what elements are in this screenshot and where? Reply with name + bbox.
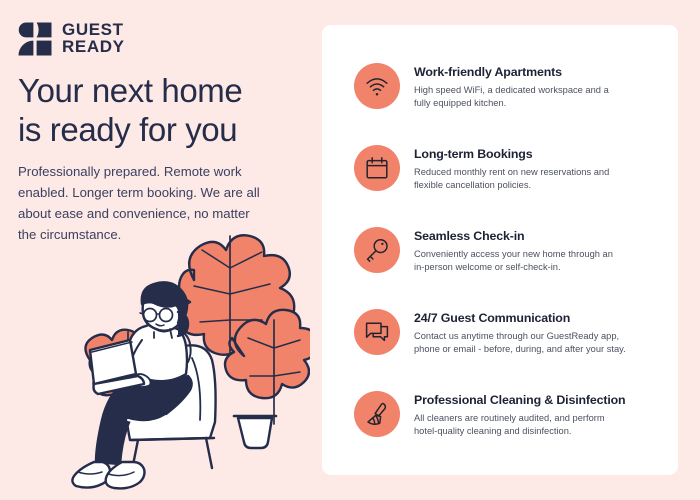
feature-item-long-term-bookings[interactable]: Long-term Bookings Reduced monthly rent … bbox=[354, 145, 666, 192]
feature-text: 24/7 Guest Communication Contact us anyt… bbox=[414, 309, 626, 356]
page-title: Your next home is ready for you bbox=[18, 72, 308, 150]
brand-wordmark: GUEST READY bbox=[62, 22, 125, 55]
feature-text: Professional Cleaning & Disinfection All… bbox=[414, 391, 625, 438]
feature-description: Conveniently access your new home throug… bbox=[414, 248, 613, 274]
feature-title: Long-term Bookings bbox=[414, 147, 609, 163]
chat-bubbles-icon bbox=[354, 309, 400, 355]
feature-title: Professional Cleaning & Disinfection bbox=[414, 393, 625, 409]
feature-text: Long-term Bookings Reduced monthly rent … bbox=[414, 145, 609, 192]
feature-item-professional-cleaning[interactable]: Professional Cleaning & Disinfection All… bbox=[354, 391, 666, 438]
marketing-infographic: GUEST READY Your next home is ready for … bbox=[0, 0, 700, 500]
feature-description: Reduced monthly rent on new reservations… bbox=[414, 166, 609, 192]
feature-title: Seamless Check-in bbox=[414, 229, 613, 245]
feature-description: All cleaners are routinely audited, and … bbox=[414, 412, 625, 438]
broom-icon bbox=[354, 391, 400, 437]
features-panel: Work-friendly Apartments High speed WiFi… bbox=[322, 25, 678, 475]
feature-text: Work-friendly Apartments High speed WiFi… bbox=[414, 63, 609, 110]
feature-title: 24/7 Guest Communication bbox=[414, 311, 626, 327]
feature-text: Seamless Check-in Conveniently access yo… bbox=[414, 227, 613, 274]
wifi-icon bbox=[354, 63, 400, 109]
feature-item-work-friendly-apartments[interactable]: Work-friendly Apartments High speed WiFi… bbox=[354, 63, 666, 110]
feature-item-seamless-check-in[interactable]: Seamless Check-in Conveniently access yo… bbox=[354, 227, 666, 274]
left-column: GUEST READY Your next home is ready for … bbox=[0, 0, 322, 500]
woman-with-laptop-on-chair-with-plants-illustration bbox=[34, 228, 310, 490]
feature-description: Contact us anytime through our GuestRead… bbox=[414, 330, 626, 356]
feature-title: Work-friendly Apartments bbox=[414, 65, 609, 81]
calendar-icon bbox=[354, 145, 400, 191]
brand-logo[interactable]: GUEST READY bbox=[18, 22, 125, 56]
feature-description: High speed WiFi, a dedicated workspace a… bbox=[414, 84, 609, 110]
guestready-logo-mark bbox=[18, 22, 52, 56]
key-icon bbox=[354, 227, 400, 273]
feature-item-guest-communication[interactable]: 24/7 Guest Communication Contact us anyt… bbox=[354, 309, 666, 356]
